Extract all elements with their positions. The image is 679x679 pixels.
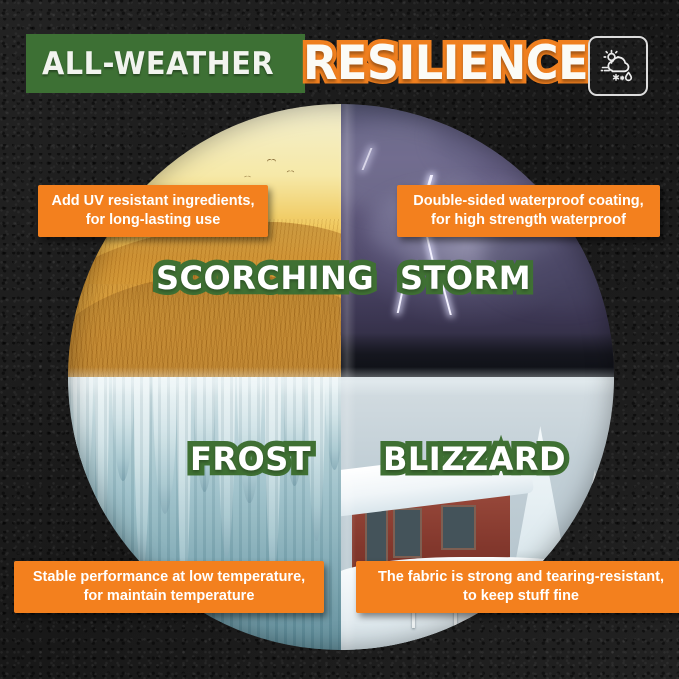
bird-icon bbox=[244, 176, 250, 180]
label-scorching: SCORCHING bbox=[156, 262, 374, 294]
caption-scorching: Add UV resistant ingredients, for long-l… bbox=[38, 185, 268, 237]
mixed-weather-icon bbox=[588, 36, 648, 96]
label-blizzard: BLIZZARD bbox=[383, 443, 566, 475]
header-orange-block: RESILIENCE bbox=[303, 34, 603, 93]
bird-icon bbox=[267, 159, 276, 164]
quadrant-storm-image bbox=[341, 104, 614, 377]
header-title-accent: RESILIENCE bbox=[303, 40, 588, 87]
header-banner: ALL-WEATHER RESILIENCE bbox=[26, 34, 603, 93]
label-storm: STORM bbox=[400, 262, 531, 294]
infographic-poster: ALL-WEATHER RESILIENCE bbox=[0, 0, 679, 679]
caption-frost: Stable performance at low temperature, f… bbox=[14, 561, 324, 613]
header-green-block: ALL-WEATHER bbox=[26, 34, 305, 93]
bird-icon bbox=[287, 170, 294, 174]
label-frost: FROST bbox=[190, 443, 311, 475]
caption-storm: Double-sided waterproof coating, for hig… bbox=[397, 185, 660, 237]
caption-blizzard: The fabric is strong and tearing-resista… bbox=[356, 561, 679, 613]
header-title-primary: ALL-WEATHER bbox=[42, 46, 274, 82]
quadrant-scorching-image bbox=[68, 104, 341, 377]
